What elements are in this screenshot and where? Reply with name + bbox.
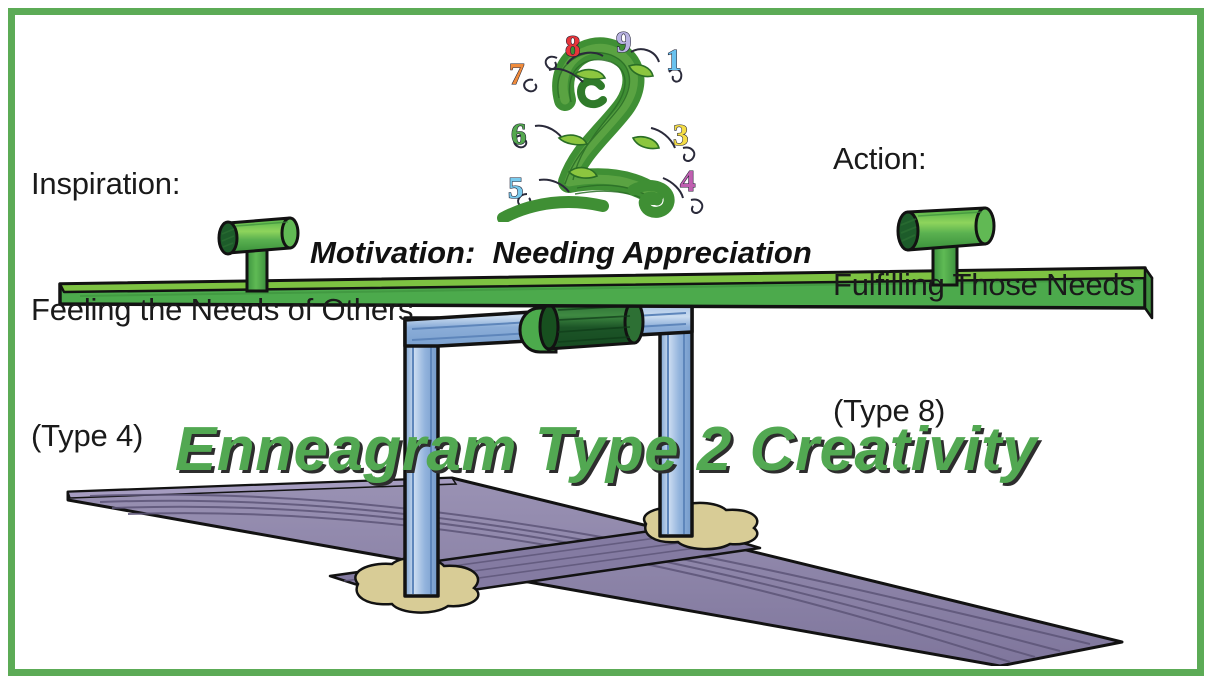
enneagram-number-3: 3 — [673, 119, 689, 150]
motivation-caption: Motivation: Needing Appreciation — [310, 235, 812, 271]
enneagram-number-5: 5 — [508, 172, 524, 203]
enneagram-number-9: 9 — [616, 26, 632, 57]
action-heading: Action: — [833, 138, 1135, 180]
enneagram-logo: 7 8 9 1 6 3 5 4 — [483, 22, 723, 222]
inspiration-description: Feeling the Needs of Others — [31, 289, 413, 331]
enneagram-number-6: 6 — [511, 118, 527, 149]
enneagram-number-8: 8 — [565, 30, 581, 61]
enneagram-number-1: 1 — [666, 44, 682, 75]
pivot-cylinder — [520, 301, 643, 352]
inspiration-heading: Inspiration: — [31, 163, 413, 205]
enneagram-number-7: 7 — [509, 58, 525, 89]
enneagram-number-4: 4 — [680, 165, 696, 196]
action-description: Fulfilling Those Needs — [833, 264, 1135, 306]
page-title: Enneagram Type 2 Creativity — [0, 414, 1212, 485]
slide-canvas: 7 8 9 1 6 3 5 4 Inspiration: Feeling the… — [0, 0, 1212, 684]
